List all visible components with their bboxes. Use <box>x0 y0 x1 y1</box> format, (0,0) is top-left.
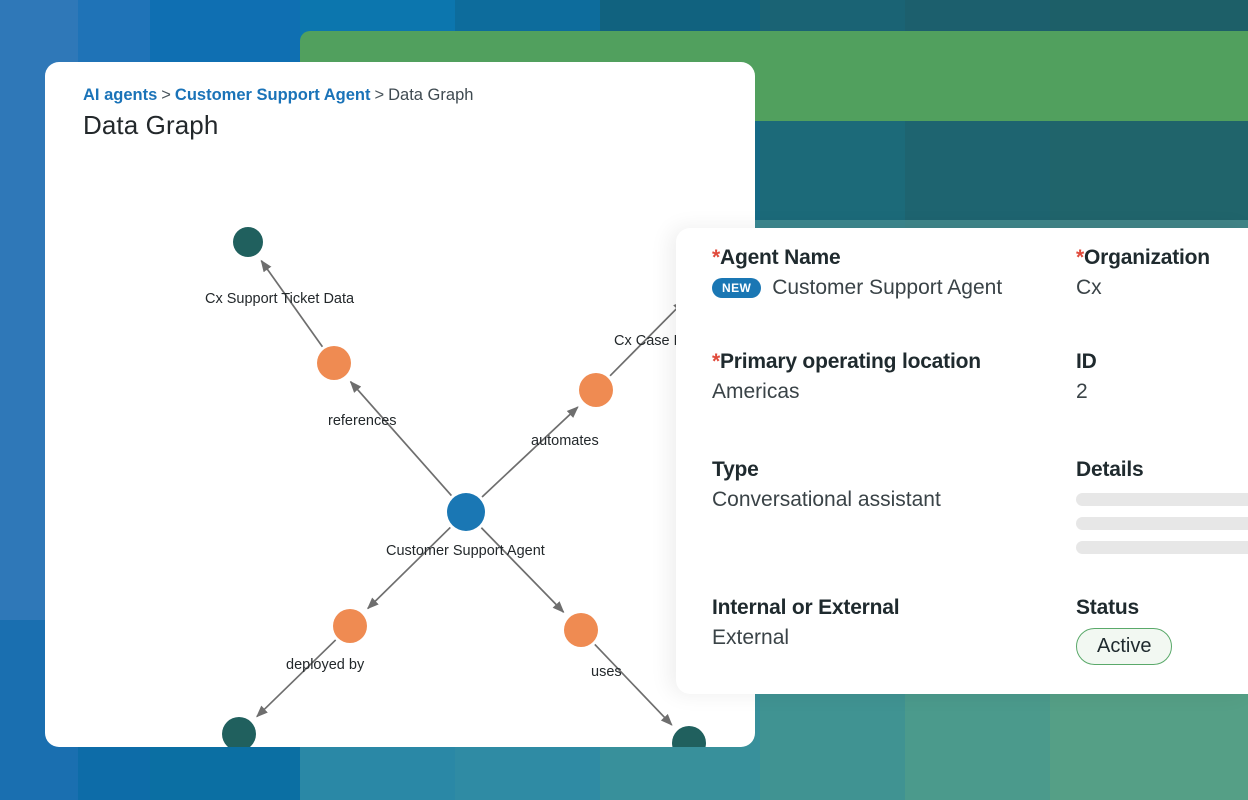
background-tile <box>760 735 905 800</box>
agent-detail-panel: *Agent Name NEW Customer Support Agent *… <box>676 228 1248 694</box>
graph-edge <box>257 640 336 717</box>
graph-node-label-deployed_by: deployed by <box>286 657 365 673</box>
required-asterisk: * <box>712 246 720 269</box>
field-status: Status Active <box>1076 596 1248 665</box>
field-label-id: ID <box>1076 350 1248 374</box>
placeholder-bar <box>1076 517 1248 530</box>
field-value-id: 2 <box>1076 380 1248 404</box>
field-value-primary-location: Americas <box>712 380 1052 404</box>
graph-node-agent[interactable] <box>447 493 485 531</box>
graph-node-uses[interactable] <box>564 613 598 647</box>
field-label-organization: *Organization <box>1076 246 1248 270</box>
new-badge: NEW <box>712 278 761 298</box>
field-value-internal-external: External <box>712 626 1052 650</box>
background-tile <box>905 120 1050 220</box>
graph-node-deployed_by[interactable] <box>333 609 367 643</box>
field-type: Type Conversational assistant <box>712 458 1052 512</box>
status-badge: Active <box>1076 628 1172 665</box>
field-label-primary-location: *Primary operating location <box>712 350 1052 374</box>
field-details: Details <box>1076 458 1248 554</box>
graph-edge <box>351 382 452 496</box>
field-label-details: Details <box>1076 458 1248 482</box>
field-label-agent-name: *Agent Name <box>712 246 1052 270</box>
background-tile <box>1050 120 1248 220</box>
graph-edge <box>481 528 563 612</box>
graph-node-automates[interactable] <box>579 373 613 407</box>
graph-node-gemini[interactable] <box>672 726 706 747</box>
graph-node-label-references: references <box>328 413 397 429</box>
graph-node-ticket_data[interactable] <box>233 227 263 257</box>
background-tile <box>905 735 1050 800</box>
graph-node-label-uses: uses <box>591 664 622 680</box>
graph-node-label-automates: automates <box>531 433 599 449</box>
graph-edge <box>595 644 672 724</box>
placeholder-bar <box>1076 541 1248 554</box>
required-asterisk: * <box>712 350 720 373</box>
graph-canvas[interactable]: Cx Support Ticket DatareferencesCx Case … <box>45 62 755 747</box>
background-tile <box>760 120 905 220</box>
placeholder-bar <box>1076 493 1248 506</box>
data-graph-card: AI agents>Customer Support Agent>Data Gr… <box>45 62 755 747</box>
background-tile <box>1050 735 1248 800</box>
field-organization: *Organization Cx <box>1076 246 1248 300</box>
graph-node-platform_org[interactable] <box>222 717 256 747</box>
field-id: ID 2 <box>1076 350 1248 404</box>
field-agent-name: *Agent Name NEW Customer Support Agent <box>712 246 1052 300</box>
field-value-agent-name: Customer Support Agent <box>772 276 1002 300</box>
graph-node-label-ticket_data: Cx Support Ticket Data <box>205 291 355 307</box>
graph-edge <box>368 527 450 608</box>
details-placeholder-bars <box>1076 493 1248 554</box>
graph-node-references[interactable] <box>317 346 351 380</box>
required-asterisk: * <box>1076 246 1084 269</box>
graph-node-label-agent: Customer Support Agent <box>386 543 545 559</box>
field-label-status: Status <box>1076 596 1248 620</box>
field-value-organization: Cx <box>1076 276 1248 300</box>
graph-edges <box>257 261 684 725</box>
field-internal-external: Internal or External External <box>712 596 1052 650</box>
field-label-type: Type <box>712 458 1052 482</box>
field-value-type: Conversational assistant <box>712 488 1052 512</box>
graph-edge <box>482 407 578 497</box>
field-label-internal-external: Internal or External <box>712 596 1052 620</box>
field-primary-location: *Primary operating location Americas <box>712 350 1052 404</box>
